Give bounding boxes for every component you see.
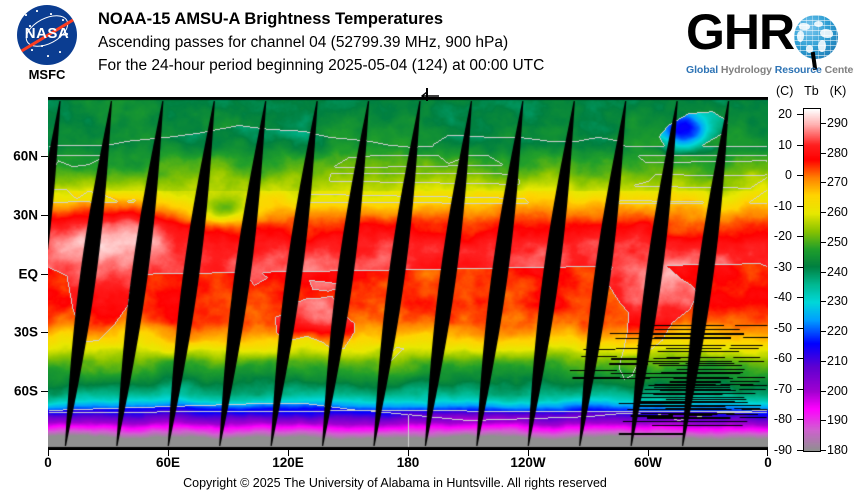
colorbar-tick-celsius [797,358,803,359]
lat-label: 30S [14,325,38,340]
ghrc-globe-icon [794,15,838,59]
ghrc-tagline-word-3: Resource [775,64,825,76]
lon-label: 120E [272,455,304,470]
lat-tick [41,274,48,275]
colorbar-label-kelvin: 220 [827,324,848,338]
ghrc-wordmark: GHR [686,4,794,60]
colorbar-tick-kelvin [820,212,826,213]
colorbar-tick-celsius [797,450,803,451]
lat-tick [41,391,48,392]
colorbar-label-kelvin: 270 [827,175,848,189]
swath-start-marker-icon [410,88,440,102]
colorbar-label-celsius: -30 [774,260,792,274]
colorbar-tick-kelvin [820,361,826,362]
colorbar-tick-kelvin [820,242,826,243]
lat-label: 60N [13,148,38,163]
ghrc-tagline-word-1: Global [686,64,721,76]
title-block: NOAA-15 AMSU-A Brightness Temperatures A… [98,8,658,77]
lat-tick [41,156,48,157]
colorbar-label-kelvin: 250 [827,235,848,249]
colorbar-tick-kelvin [820,153,826,154]
page-period: For the 24-hour period beginning 2025-05… [98,54,658,77]
colorbar-tick-celsius [797,236,803,237]
colorbar-label-celsius: 20 [778,107,792,121]
lon-label: 60E [156,455,180,470]
colorbar-label-kelvin: 240 [827,265,848,279]
colorbar-tick-kelvin [820,301,826,302]
colorbar-tick-celsius [797,267,803,268]
colorbar-tick-kelvin [820,450,826,451]
colorbar-label-celsius: -10 [774,199,792,213]
colorbar-label-kelvin: 190 [827,413,848,427]
colorbar-variable-label: Tb [804,84,819,98]
colorbar-label-kelvin: 210 [827,354,848,368]
colorbar-tick-kelvin [820,391,826,392]
colorbar-tick-celsius [797,297,803,298]
map-raster [48,97,768,450]
colorbar-label-celsius: 10 [778,138,792,152]
colorbar-tick-kelvin [820,420,826,421]
colorbar-tick-celsius [797,328,803,329]
colorbar-tick-kelvin [820,272,826,273]
colorbar-tick-kelvin [820,123,826,124]
colorbar-tick-celsius [797,145,803,146]
colorbar[interactable] [803,108,821,452]
colorbar-label-kelvin: 290 [827,116,848,130]
lat-label: EQ [18,266,38,281]
colorbar-label-kelvin: 200 [827,384,848,398]
colorbar-tick-celsius [797,175,803,176]
colorbar-label-celsius: -70 [774,382,792,396]
lon-label: 120W [510,455,545,470]
lon-label: 0 [764,455,772,470]
colorbar-tick-celsius [797,114,803,115]
colorbar-label-celsius: -80 [774,412,792,426]
page-subtitle: Ascending passes for channel 04 (52799.3… [98,31,658,54]
colorbar-label-celsius: -90 [774,443,792,457]
colorbar-label-celsius: -60 [774,351,792,365]
copyright-notice: Copyright © 2025 The University of Alaba… [0,476,790,490]
nasa-msfc-logo: NASA MSFC [10,5,84,89]
lat-label: 30N [13,207,38,222]
ghrc-tagline: Global Hydrology Resource Center [686,64,848,76]
colorbar-tick-kelvin [820,331,826,332]
colorbar-tick-kelvin [820,182,826,183]
lat-label: 60S [14,384,38,399]
colorbar-label-celsius: -20 [774,229,792,243]
colorbar-label-kelvin: 280 [827,146,848,160]
colorbar-tick-celsius [797,389,803,390]
lat-tick [41,215,48,216]
lon-label: 180 [397,455,420,470]
colorbar-unit-celsius: (C) [776,84,793,98]
page-title: NOAA-15 AMSU-A Brightness Temperatures [98,8,658,31]
colorbar-tick-celsius [797,206,803,207]
nasa-wordmark: NASA [17,25,77,42]
colorbar-label-kelvin: 230 [827,294,848,308]
nasa-meatball-icon: NASA [17,5,77,65]
brightness-temperature-map[interactable] [48,97,768,450]
colorbar-label-celsius: 0 [785,168,792,182]
lon-label: 0 [44,455,52,470]
colorbar-gradient [804,109,820,451]
colorbar-label-celsius: -40 [774,290,792,304]
ghrc-tagline-word-4: Center [825,64,854,76]
ghrc-tagline-word-2: Hydrology [721,64,775,76]
colorbar-header: (C) Tb (K) [776,84,846,98]
nasa-center-label: MSFC [10,67,84,82]
colorbar-unit-kelvin: (K) [830,84,847,98]
colorbar-label-kelvin: 260 [827,205,848,219]
colorbar-label-celsius: -50 [774,321,792,335]
colorbar-tick-celsius [797,419,803,420]
lon-label: 60W [634,455,662,470]
colorbar-label-kelvin: 180 [827,443,848,457]
lat-tick [41,332,48,333]
ghrc-logo: GHR Global Hydrology Resource Center [686,8,848,82]
